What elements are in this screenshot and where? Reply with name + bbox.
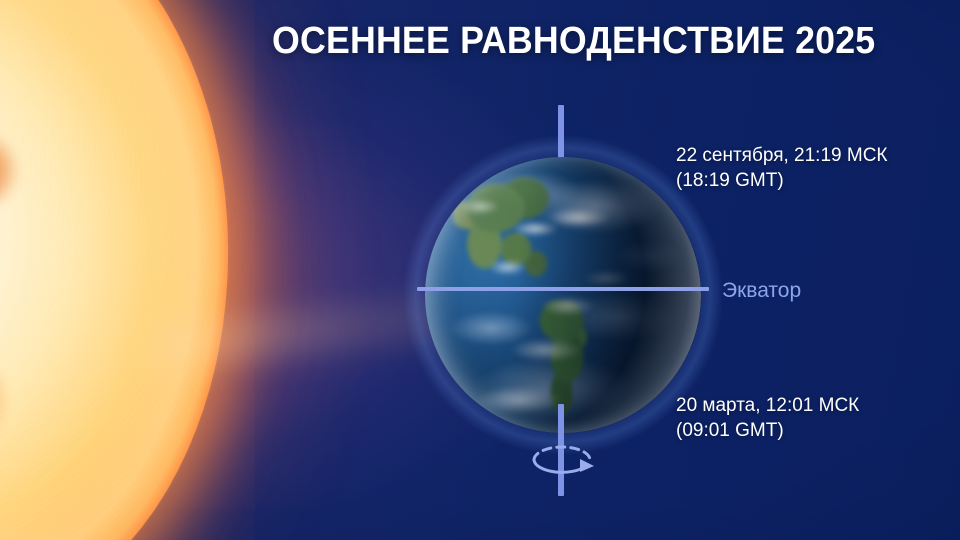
callout-spring-equinox: 20 марта, 12:01 МСК (09:01 GMT) [676,393,859,443]
earth [425,157,701,433]
earth-limb-edge [425,157,701,433]
callout-spring-line1: 20 марта, 12:01 МСК [676,395,859,416]
rotation-direction-indicator [524,438,600,486]
earth-sphere [425,157,701,433]
page-title: ОСЕННЕЕ РАВНОДЕНСТВИЕ 2025 [272,20,875,63]
equator-line [417,287,709,291]
callout-autumn-line2: (18:19 GMT) [676,168,888,193]
callout-autumn-line1: 22 сентября, 21:19 МСК [676,145,888,166]
infographic-canvas: ОСЕННЕЕ РАВНОДЕНСТВИЕ 2025 Экватор 22 се… [0,0,960,540]
rotation-arrow-icon [524,438,600,486]
callout-autumn-equinox: 22 сентября, 21:19 МСК (18:19 GMT) [676,143,888,193]
sun [0,0,228,540]
callout-spring-line2: (09:01 GMT) [676,418,859,443]
equator-label: Экватор [722,279,801,303]
